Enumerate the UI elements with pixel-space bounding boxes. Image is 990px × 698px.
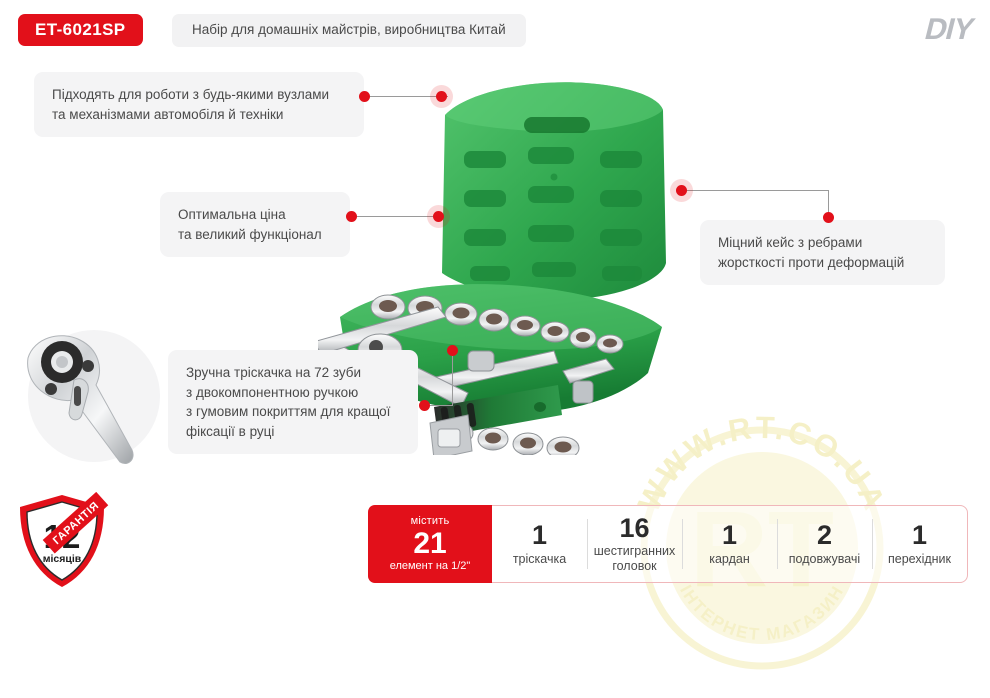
- callout-1-dot-box: [359, 91, 370, 102]
- callout-compatibility: Підходять для роботи з будь-якими вузлам…: [34, 72, 364, 137]
- diy-logo-text: DIY: [922, 12, 976, 45]
- product-subtitle: Набір для домашніх майстрів, виробництва…: [172, 14, 526, 47]
- callout-1-dot-anchor: [436, 91, 447, 102]
- spec-item-universal-joint: 1 кардан: [682, 506, 777, 582]
- spec-item-extensions: 2 подовжувачі: [777, 506, 872, 582]
- ratchet-closeup-image: [12, 322, 162, 477]
- watermark-bottom-text: ІНТЕРНЕТ МАГАЗИН: [676, 582, 848, 645]
- specs-bar: містить 21 елемент на 1/2" 1 тріскачка 1…: [368, 505, 968, 583]
- spec-total-number: 21: [413, 528, 446, 560]
- callout-3-dot-box: [823, 212, 834, 223]
- spec-item-ratchet: 1 тріскачка: [492, 506, 587, 582]
- callout-4-dot-anchor: [447, 345, 458, 356]
- callout-case-strength: Міцний кейс з ребрами жорсткості проти д…: [700, 220, 945, 285]
- ratchet-head-shape: [28, 336, 133, 464]
- callout-ratchet-features: Зручна тріскачка на 72 зуби з двокомпоне…: [168, 350, 418, 454]
- spec-item-hex-sockets: 16 шестигранних головок: [587, 506, 682, 582]
- diy-brand-logo: DIY: [856, 8, 976, 48]
- warranty-badge: 12 місяців ГАРАНТІЯ: [14, 492, 110, 592]
- case-lid: [442, 82, 666, 299]
- callout-price-value: Оптимальна ціна та великий функціонал: [160, 192, 350, 257]
- callout-2-dot-anchor: [433, 211, 444, 222]
- warranty-unit: місяців: [43, 553, 82, 565]
- connector-line-3-h: [684, 190, 828, 191]
- callout-3-dot-anchor: [676, 185, 687, 196]
- connector-line-4-v: [452, 350, 453, 406]
- connector-line-2: [353, 216, 439, 217]
- callout-2-dot-box: [346, 211, 357, 222]
- spec-total-count: містить 21 елемент на 1/2": [368, 505, 492, 583]
- callout-4-dot-box: [419, 400, 430, 411]
- spec-total-label-top: містить: [411, 516, 450, 527]
- svg-text:ІНТЕРНЕТ МАГАЗИН: ІНТЕРНЕТ МАГАЗИН: [676, 582, 848, 645]
- spec-total-label-bottom: елемент на 1/2": [390, 561, 471, 572]
- sku-badge: ET-6021SP: [18, 14, 143, 46]
- header: ET-6021SP Набір для домашніх майстрів, в…: [0, 0, 990, 56]
- infographic-canvas: WWW.RT.CO.UA RT ІНТЕРНЕТ МАГАЗИН ET-6021…: [0, 0, 990, 600]
- spec-item-adapter: 1 перехідник: [872, 506, 967, 582]
